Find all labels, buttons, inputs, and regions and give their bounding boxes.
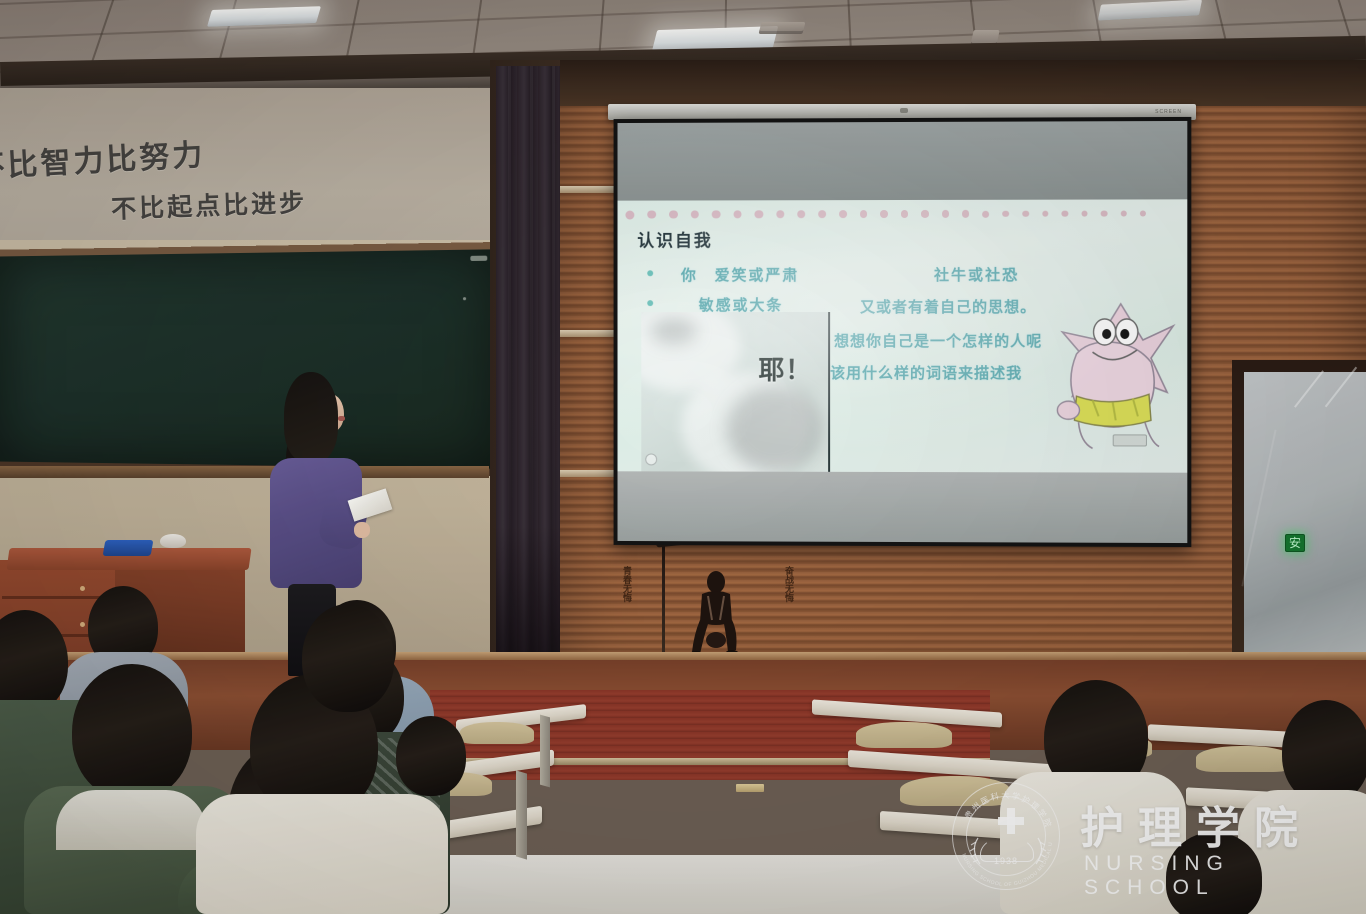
wall-vertical-text-right: 奋战无悔 [782, 566, 795, 602]
slide-photo-caption: 耶！ [758, 350, 812, 387]
sprinter-wall-graphic [686, 570, 746, 660]
podium-blue-item[interactable] [103, 540, 154, 556]
student-head [1282, 700, 1366, 804]
classroom-photo: 不比智力比努力 不比起点比进步 青春无悔 [0, 0, 1366, 914]
slide-right-line-3: 想想你自己是一个怎样的人呢 [834, 330, 1042, 351]
exit-sign-label: 安 [1289, 537, 1301, 549]
letterbox-top [618, 121, 1188, 201]
slide-dot-border [618, 205, 1188, 222]
slide-dot [921, 210, 928, 217]
student-head [396, 716, 466, 796]
slide-dot [1120, 210, 1126, 216]
slide-dot [901, 210, 908, 217]
slide-dot [942, 210, 949, 217]
slide-dot [1062, 210, 1069, 217]
slide-dot [1081, 210, 1087, 216]
student-head [72, 664, 192, 800]
slide-dot [647, 210, 656, 219]
slide-dot [669, 210, 678, 219]
bullet-dot-icon [647, 300, 653, 306]
slide-dot [776, 210, 784, 218]
blackboard [0, 242, 505, 476]
slide-dot [1022, 210, 1029, 217]
slide-dot [690, 210, 699, 219]
slide-right-line-2: 又或者有着自己的思想。 [860, 296, 1036, 317]
slide-dot [797, 210, 805, 218]
student-head [1166, 832, 1262, 914]
slide-dot [982, 210, 989, 217]
seat [900, 776, 1010, 806]
seat [1196, 746, 1292, 772]
student-collar [56, 790, 206, 850]
desk-side-panel [516, 770, 527, 859]
slide-dot [818, 210, 826, 218]
mic-stand [662, 540, 665, 658]
presentation-slide: 认识自我 你 爱笑或严肃 敏感或大条 社牛或社恐 又或者有着自己的思想。 想想你… [618, 199, 1188, 472]
photo-control-icon[interactable] [645, 453, 657, 465]
seat [460, 722, 534, 744]
bullet-dot-icon [647, 270, 653, 276]
media-control-bar[interactable] [1113, 434, 1147, 446]
seat [856, 722, 952, 748]
white-baseboard-wall [430, 855, 1030, 914]
slide-left-line-1: 你 爱笑或严肃 [681, 264, 799, 285]
casing-label: SCREEN [1155, 109, 1182, 115]
slide-dot [839, 210, 847, 218]
student-body-white-hoodie [1000, 772, 1186, 914]
teacher-hair [284, 372, 338, 462]
computer-mouse[interactable] [160, 534, 186, 548]
slide-dot [880, 210, 888, 218]
slide-dot [625, 210, 634, 219]
slide-right-line-4: 该用什么样的词语来描述我 [830, 362, 1022, 383]
slide-dot [755, 210, 763, 218]
slide-cat-photo: 耶！ [641, 312, 830, 472]
slide-dot [860, 210, 868, 218]
slide-dot [733, 210, 741, 218]
slide-dot [1042, 210, 1049, 217]
blackboard-chalk-tray [0, 466, 489, 478]
projector-screen: 认识自我 你 爱笑或严肃 敏感或大条 社牛或社恐 又或者有着自己的思想。 想想你… [614, 117, 1192, 547]
slide-right-line-1: 社牛或社恐 [934, 264, 1019, 285]
wall-vertical-text-left: 青春无悔 [620, 566, 633, 602]
desk-side-panel [540, 715, 550, 788]
student-body-cream-coat [196, 794, 448, 914]
slide-dot [1101, 210, 1107, 216]
slide-dot [1140, 210, 1146, 216]
slide-dot [712, 210, 720, 219]
glass-door[interactable] [1244, 372, 1366, 682]
letterbox-bottom [618, 471, 1188, 543]
slide-dot [1002, 210, 1009, 217]
student-head [302, 604, 394, 712]
casing-dot [900, 108, 908, 113]
wall-upper-band [560, 60, 1366, 106]
stage-curtain [496, 66, 570, 696]
slide-title: 认识自我 [637, 226, 712, 251]
patrick-star-character [1046, 296, 1179, 457]
emergency-exit-sign: 安 [1285, 534, 1305, 552]
ceiling-projector-mount [759, 22, 806, 34]
wall-plate [736, 784, 764, 792]
slide-dot [962, 210, 969, 217]
